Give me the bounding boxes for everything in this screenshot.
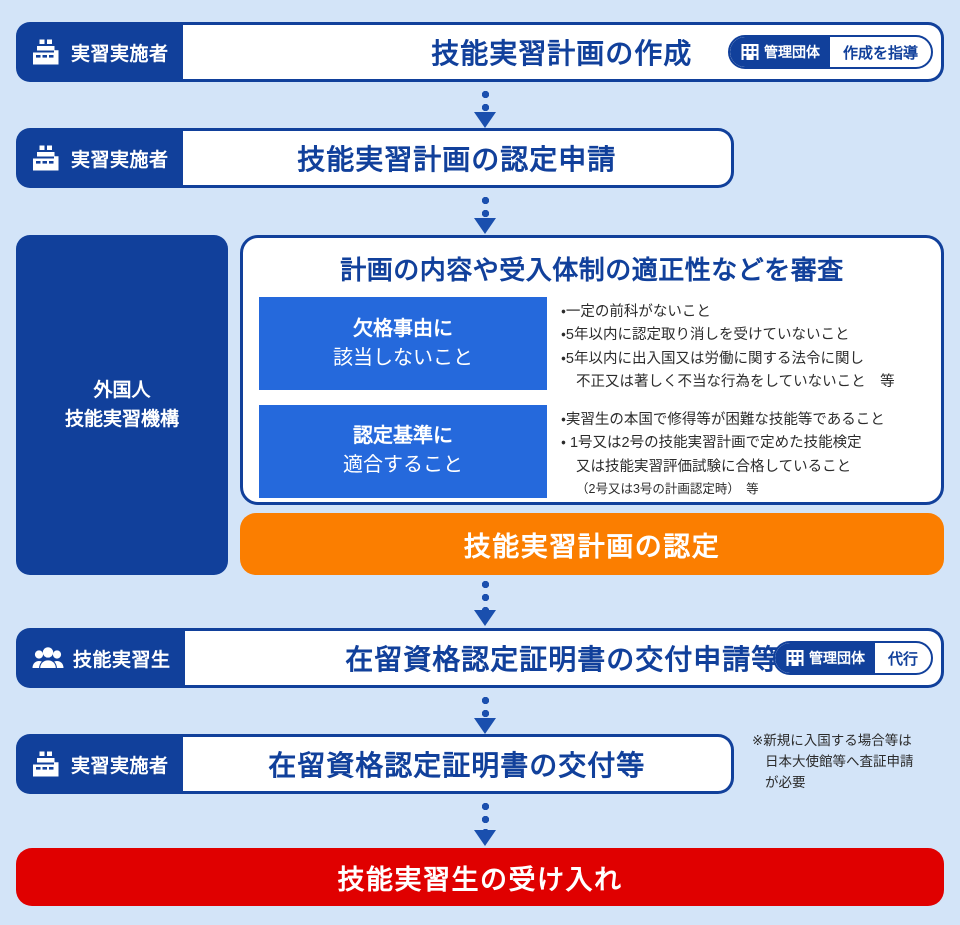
step-4-actor-label: 実習実施者 <box>71 751 169 778</box>
criteria-2-light: 適合すること <box>343 451 463 480</box>
note-line: （2号又は3号の計画認定時） 等 <box>561 479 925 499</box>
final-acceptance-bar: 技能実習生の受け入れ <box>16 848 944 906</box>
step-1-title: 技能実習計画の作成 <box>431 32 692 72</box>
step-1-actor: 実習実施者 <box>16 22 183 82</box>
step-4-actor: 実習実施者 <box>16 734 183 794</box>
side-note-line-3: が必要 <box>752 773 914 794</box>
badge-action-label: 代行 <box>875 643 931 673</box>
step-1-actor-label: 実習実施者 <box>71 39 169 66</box>
connector-arrow-4 <box>474 694 496 734</box>
criteria-1-light: 該当しないこと <box>333 344 473 373</box>
arrow-dots <box>481 194 490 218</box>
step-1-supervising-badge[interactable]: 管理団体 作成を指導 <box>728 35 933 69</box>
note-line: ・5年以内に認定取り消しを受けていないこと <box>561 324 925 347</box>
step-1-body: 技能実習計画の作成 <box>183 22 944 82</box>
review-panel: 計画の内容や受入体制の適正性などを審査 欠格事由に 該当しないこと ・一定の前科… <box>240 235 944 505</box>
step-2-body: 技能実習計画の認定申請 <box>183 128 734 188</box>
flowchart-container: 実習実施者 技能実習計画の作成 <box>0 0 960 925</box>
criteria-1-notes: ・一定の前科がないこと ・5年以内に認定取り消しを受けていないこと ・5年以内に… <box>547 297 925 395</box>
step-2-actor: 実習実施者 <box>16 128 183 188</box>
agency-name: 外国人 技能実習機構 <box>65 376 179 435</box>
step-4-title: 在留資格認定証明書の交付等 <box>268 744 645 784</box>
criteria-row-standards: 認定基準に 適合すること ・実習生の本国で修得等が困難な技能等であること ・ 1… <box>259 405 925 500</box>
badge-org-label: 管理団体 <box>764 42 820 62</box>
arrow-dots <box>481 800 490 830</box>
building-icon <box>741 43 759 61</box>
criteria-box-1: 欠格事由に 該当しないこと <box>259 297 547 390</box>
step-3-actor-label: 技能実習生 <box>73 645 171 672</box>
note-line: 又は技能実習評価試験に合格していること <box>561 456 925 479</box>
factory-icon <box>32 751 62 777</box>
arrow-head <box>474 830 496 846</box>
badge-action-label: 作成を指導 <box>830 37 931 67</box>
arrow-head <box>474 112 496 128</box>
side-note-line-1: ※新規に入国する場合等は <box>752 731 914 752</box>
connector-arrow-3 <box>474 578 496 626</box>
connector-arrow-5 <box>474 800 496 846</box>
badge-org-side: 管理団体 <box>730 37 830 67</box>
step-row-1: 実習実施者 技能実習計画の作成 <box>16 22 944 82</box>
factory-icon <box>32 39 62 65</box>
agency-name-line-2: 技能実習機構 <box>65 405 179 434</box>
note-line: ・5年以内に出入国又は労働に関する法令に関し <box>561 348 925 371</box>
side-note-line-2: 日本大使館等へ査証申請 <box>752 752 914 773</box>
step-2-title: 技能実習計画の認定申請 <box>297 138 616 178</box>
agency-name-line-1: 外国人 <box>65 376 179 405</box>
step-3-title: 在留資格認定証明書の交付申請等 <box>345 638 780 678</box>
step-3-actor: 技能実習生 <box>16 628 185 688</box>
note-line: ・一定の前科がないこと <box>561 301 925 324</box>
factory-icon <box>32 145 62 171</box>
criteria-row-disqualification: 欠格事由に 該当しないこと ・一定の前科がないこと ・5年以内に認定取り消しを受… <box>259 297 925 395</box>
step-row-3: 技能実習生 在留資格認定証明書の交付申請等 <box>16 628 944 688</box>
arrow-dots <box>481 578 490 610</box>
step-row-2: 実習実施者 技能実習計画の認定申請 <box>16 128 734 188</box>
arrow-dots <box>481 88 490 112</box>
step-3-supervising-badge[interactable]: 管理団体 代行 <box>773 641 933 675</box>
badge-org-side: 管理団体 <box>775 643 875 673</box>
step-4-body: 在留資格認定証明書の交付等 <box>183 734 734 794</box>
badge-org-label: 管理団体 <box>809 648 865 668</box>
criteria-box-2: 認定基準に 適合すること <box>259 405 547 498</box>
criteria-2-notes: ・実習生の本国で修得等が困難な技能等であること ・ 1号又は2号の技能実習計画で… <box>547 405 925 500</box>
building-icon <box>786 649 804 667</box>
note-line: 不正又は著しく不当な行為をしていないこと 等 <box>561 371 925 394</box>
people-group-icon <box>32 646 64 670</box>
arrow-head <box>474 718 496 734</box>
connector-arrow-2 <box>474 194 496 234</box>
approval-bar: 技能実習計画の認定 <box>240 513 944 575</box>
criteria-1-strong: 欠格事由に <box>353 315 453 344</box>
criteria-2-strong: 認定基準に <box>353 422 453 451</box>
arrow-dots <box>481 694 490 718</box>
step-2-actor-label: 実習実施者 <box>71 145 169 172</box>
agency-column: 外国人 技能実習機構 <box>16 235 228 575</box>
step-row-4: 実習実施者 在留資格認定証明書の交付等 <box>16 734 734 794</box>
note-line: ・ 1号又は2号の技能実習計画で定めた技能検定 <box>561 432 925 455</box>
note-line: ・実習生の本国で修得等が困難な技能等であること <box>561 409 925 432</box>
arrow-head <box>474 610 496 626</box>
step-3-body: 在留資格認定証明書の交付申請等 <box>185 628 944 688</box>
visa-side-note: ※新規に入国する場合等は 日本大使館等へ査証申請 が必要 <box>752 731 914 794</box>
review-heading: 計画の内容や受入体制の適正性などを審査 <box>259 250 925 287</box>
arrow-head <box>474 218 496 234</box>
connector-arrow-1 <box>474 88 496 128</box>
